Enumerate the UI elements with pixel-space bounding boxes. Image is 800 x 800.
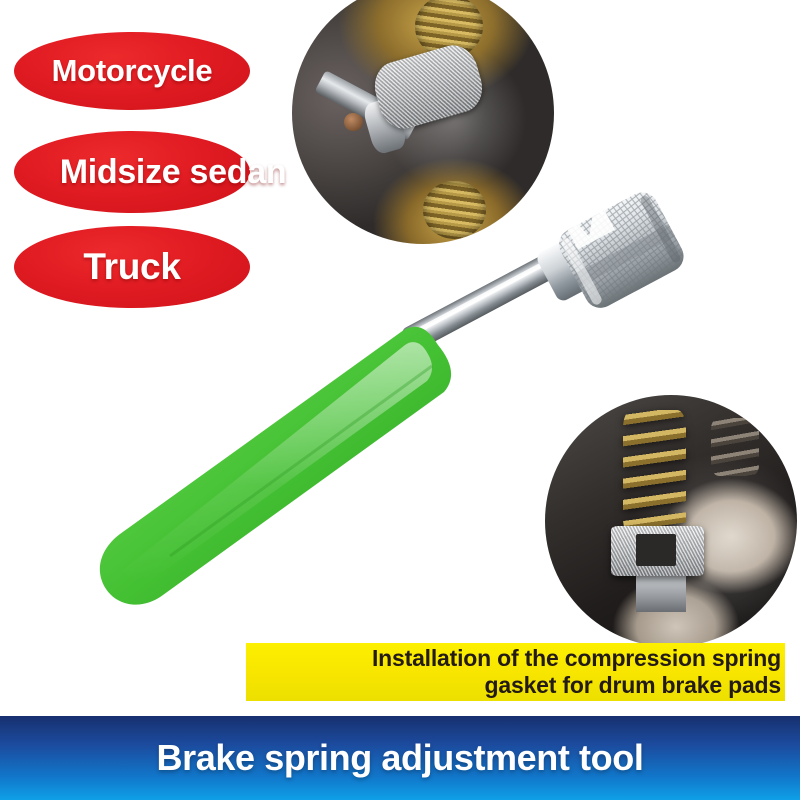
badge-truck[interactable]: Truck: [14, 226, 250, 308]
caption-banner: Installation of the compression spring g…: [246, 643, 785, 701]
product-marketing-image: Motorcycle Midsize sedan Truck Installat…: [0, 0, 800, 800]
badge-motorcycle-label: Motorcycle: [52, 53, 213, 89]
caption-line-2: gasket for drum brake pads: [485, 672, 781, 699]
product-title: Brake spring adjustment tool: [157, 737, 644, 779]
brass-spring-lower-icon: [423, 181, 486, 239]
badge-truck-label: Truck: [83, 246, 180, 288]
tool-shaft: [400, 244, 576, 354]
tool-socket-head: [553, 187, 689, 314]
photo-inset-top: [292, 0, 554, 244]
badge-midsize-sedan[interactable]: Midsize sedan: [14, 131, 250, 213]
tool-handle: [100, 327, 451, 605]
bolt-head-icon: [344, 113, 362, 131]
title-banner: Brake spring adjustment tool: [0, 716, 800, 800]
photo-inset-bottom: [545, 395, 797, 647]
badge-midsize-sedan-label: Midsize sedan: [60, 153, 287, 192]
background-spring-icon: [711, 418, 759, 476]
knurled-socket-in-photo: [368, 40, 488, 134]
caption-line-1: Installation of the compression spring: [372, 645, 781, 672]
socket-slot-icon: [636, 534, 676, 567]
socket-hex-body-icon: [636, 571, 686, 611]
brass-coil-spring-icon: [623, 410, 686, 536]
badge-motorcycle[interactable]: Motorcycle: [14, 32, 250, 110]
tool-collar: [535, 237, 596, 303]
